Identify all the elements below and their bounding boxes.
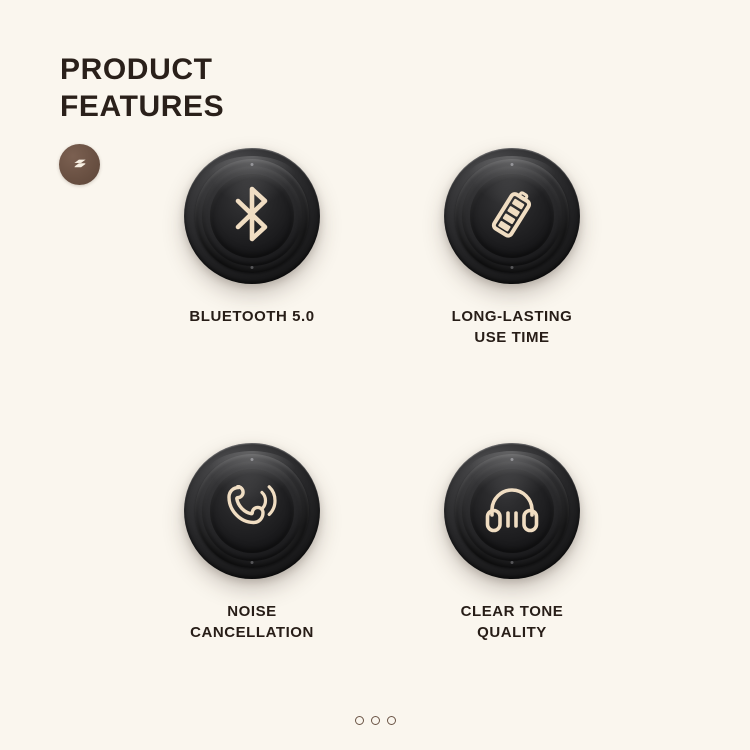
brand-logo-z-mark	[68, 153, 92, 177]
bluetooth-icon	[229, 185, 275, 248]
feature-icon-knob[interactable]	[444, 148, 580, 284]
knob-screw-bottom	[511, 266, 514, 269]
feature-icon-knob[interactable]	[184, 148, 320, 284]
knob-screw-top	[511, 163, 514, 166]
feature-card-battery[interactable]: LONG-LASTING USE TIME	[402, 148, 622, 349]
feature-card-noise-cancellation[interactable]: NOISE CANCELLATION	[142, 443, 362, 644]
feature-icon-knob[interactable]	[444, 443, 580, 579]
knob-screw-top	[511, 458, 514, 461]
knob-face	[470, 174, 554, 258]
knob-screw-bottom	[251, 266, 254, 269]
page-title: PRODUCT FEATURES	[60, 52, 224, 125]
feature-label: NOISE CANCELLATION	[142, 601, 362, 644]
feature-card-bluetooth[interactable]: BLUETOOTH 5.0	[142, 148, 362, 327]
phone-ringing-icon	[221, 480, 283, 543]
page-indicator-dots[interactable]	[0, 716, 750, 725]
knob-screw-bottom	[251, 561, 254, 564]
knob-face	[470, 469, 554, 553]
headphones-icon	[481, 482, 543, 541]
knob-screw-top	[251, 458, 254, 461]
knob-screw-bottom	[511, 561, 514, 564]
brand-logo-badge	[59, 144, 100, 185]
knob-face	[210, 469, 294, 553]
knob-face	[210, 174, 294, 258]
page-dot-3[interactable]	[387, 716, 396, 725]
knob-screw-top	[251, 163, 254, 166]
feature-label: BLUETOOTH 5.0	[142, 306, 362, 327]
battery-icon	[484, 185, 540, 248]
page-dot-2[interactable]	[371, 716, 380, 725]
feature-label: CLEAR TONE QUALITY	[402, 601, 622, 644]
feature-card-clear-tone[interactable]: CLEAR TONE QUALITY	[402, 443, 622, 644]
page-dot-1[interactable]	[355, 716, 364, 725]
feature-icon-knob[interactable]	[184, 443, 320, 579]
slide-root: PRODUCT FEATURES	[0, 0, 750, 750]
feature-label: LONG-LASTING USE TIME	[402, 306, 622, 349]
